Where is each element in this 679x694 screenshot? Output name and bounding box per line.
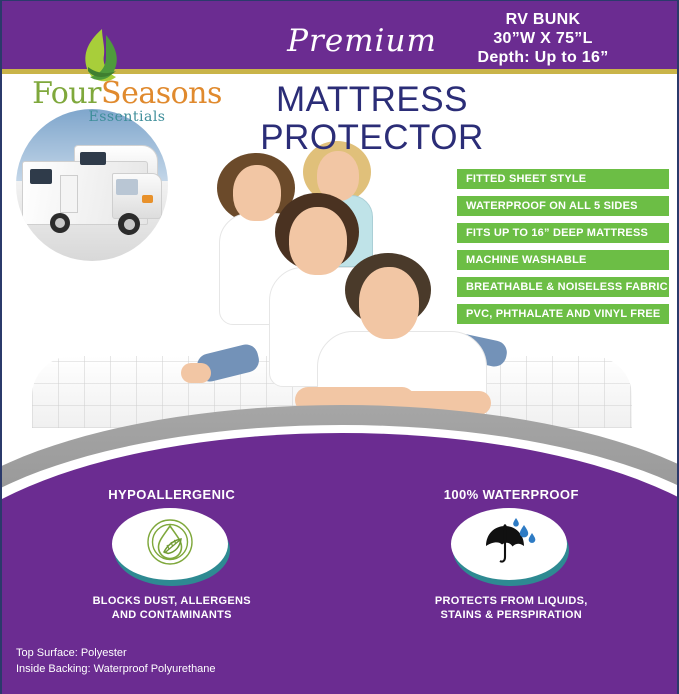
rv-hub-rear bbox=[55, 218, 65, 228]
page-title: MATTRESS PROTECTOR bbox=[232, 81, 512, 157]
spec-line-dimensions: 30”W X 75”L bbox=[423, 30, 663, 49]
father-head bbox=[359, 267, 419, 339]
badge-hypoallergenic-caption-line-1: BLOCKS DUST, ALLERGENS bbox=[2, 595, 342, 609]
mother-head bbox=[289, 207, 347, 275]
title-line-protector: PROTECTOR bbox=[232, 119, 512, 157]
feature-list: FITTED SHEET STYLE WATERPROOF ON ALL 5 S… bbox=[457, 169, 669, 331]
badge-waterproof-title: 100% WATERPROOF bbox=[342, 487, 679, 502]
badge-hypoallergenic-face bbox=[112, 508, 228, 580]
family-photo bbox=[177, 141, 467, 426]
brand-word-four: Four bbox=[32, 76, 101, 111]
brand-logo-text: FourSeasons Essentials bbox=[22, 79, 232, 124]
child-boy-head bbox=[233, 165, 281, 221]
title-line-mattress: MATTRESS bbox=[232, 81, 512, 119]
product-package-panel: FourSeasons Essentials Premium RV BUNK 3… bbox=[0, 0, 679, 694]
brand-subtitle: Essentials bbox=[22, 110, 232, 124]
badge-waterproof-caption-line-2: STAINS & PERSPIRATION bbox=[342, 609, 679, 623]
spec-line-depth: Depth: Up to 16” bbox=[423, 49, 663, 68]
feature-bar-pvc-free: PVC, PHTHALATE AND VINYL FREE bbox=[457, 304, 669, 324]
badge-waterproof-caption-line-1: PROTECTS FROM LIQUIDS, bbox=[342, 595, 679, 609]
rv-window-overcab bbox=[80, 152, 106, 165]
rv-windshield bbox=[116, 179, 138, 195]
rv-window-side bbox=[30, 169, 52, 184]
feature-bar-machine-washable: MACHINE WASHABLE bbox=[457, 250, 669, 270]
spec-line-model: RV BUNK bbox=[423, 11, 663, 30]
badge-hypoallergenic: HYPOALLERGENIC bbox=[2, 487, 342, 657]
feature-bar-fitted-sheet-style: FITTED SHEET STYLE bbox=[457, 169, 669, 189]
rv-headlight bbox=[142, 195, 153, 203]
size-spec-block: RV BUNK 30”W X 75”L Depth: Up to 16” bbox=[423, 11, 663, 68]
badge-hypoallergenic-title: HYPOALLERGENIC bbox=[2, 487, 342, 502]
umbrella-rain-icon bbox=[481, 516, 537, 573]
child-boy-foot bbox=[181, 363, 211, 383]
badge-row: HYPOALLERGENIC bbox=[2, 487, 679, 657]
badge-waterproof: 100% WATERPROOF bbox=[342, 487, 679, 657]
fineprint-top-surface: Top Surface: Polyester bbox=[16, 646, 216, 662]
brand-word-seasons: Seasons bbox=[101, 76, 222, 111]
badge-hypoallergenic-medallion bbox=[112, 508, 232, 586]
feature-bar-waterproof-5-sides: WATERPROOF ON ALL 5 SIDES bbox=[457, 196, 669, 216]
material-fineprint: Top Surface: Polyester Inside Backing: W… bbox=[16, 646, 216, 678]
fineprint-inside-backing: Inside Backing: Waterproof Polyurethane bbox=[16, 662, 216, 678]
badge-hypoallergenic-caption-line-2: AND CONTAMINANTS bbox=[2, 609, 342, 623]
badge-waterproof-face bbox=[451, 508, 567, 580]
rv-door bbox=[60, 175, 78, 213]
badge-hypoallergenic-caption: BLOCKS DUST, ALLERGENS AND CONTAMINANTS bbox=[2, 595, 342, 623]
brand-logo: FourSeasons Essentials bbox=[22, 27, 232, 107]
rv-photo bbox=[16, 109, 168, 261]
droplet-leaf-icon bbox=[144, 516, 196, 573]
feature-bar-deep-mattress: FITS UP TO 16” DEEP MATTRESS bbox=[457, 223, 669, 243]
badge-waterproof-caption: PROTECTS FROM LIQUIDS, STAINS & PERSPIRA… bbox=[342, 595, 679, 623]
feature-bar-breathable-noiseless: BREATHABLE & NOISELESS FABRIC bbox=[457, 277, 669, 297]
rv-hub-front bbox=[124, 219, 135, 230]
badge-waterproof-medallion bbox=[451, 508, 571, 586]
